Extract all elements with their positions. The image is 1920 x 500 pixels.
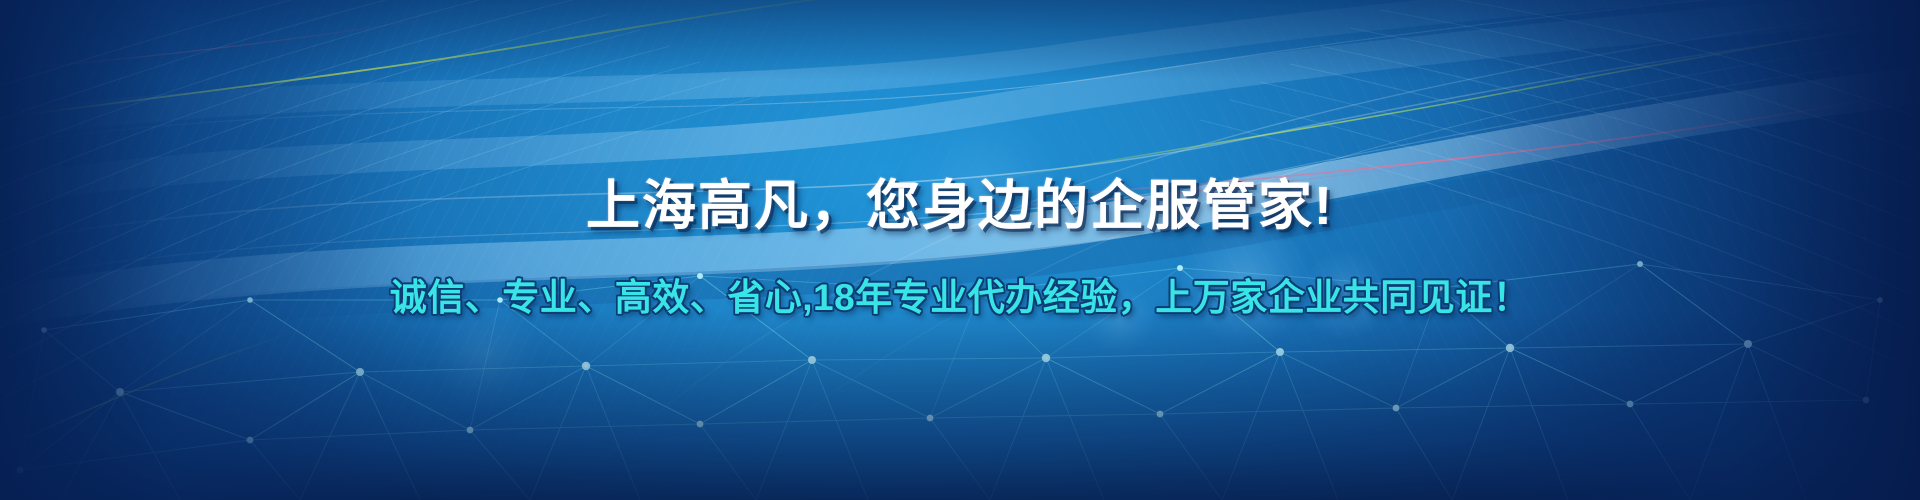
banner-subtitle: 诚信、专业、高效、省心,18年专业代办经验，上万家企业共同见证！ [390, 279, 1530, 316]
promo-banner: 上海高凡，您身边的企服管家! 诚信、专业、高效、省心,18年专业代办经验，上万家… [0, 0, 1920, 500]
banner-content: 上海高凡，您身边的企服管家! 诚信、专业、高效、省心,18年专业代办经验，上万家… [0, 0, 1920, 500]
banner-headline: 上海高凡，您身边的企服管家! [586, 179, 1334, 233]
